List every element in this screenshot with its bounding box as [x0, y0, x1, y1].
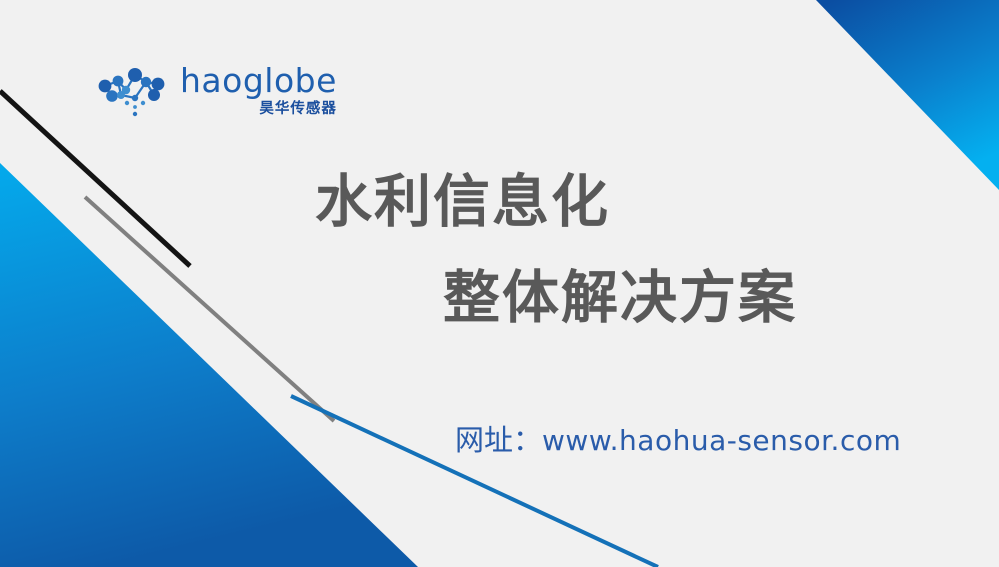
website-url[interactable]: www.haohua-sensor.com	[542, 424, 901, 457]
website-label: 网址：	[455, 423, 542, 457]
logo-subtitle-text: 昊华传感器	[259, 102, 337, 117]
logo-wordmark-text: haoglobe	[180, 64, 337, 97]
title-slide: haoglobe 昊华传感器 水利信息化 整体解决方案 网址：www.haohu…	[0, 0, 999, 567]
haoglobe-network-node-logo-icon	[96, 62, 174, 120]
company-logo[interactable]: haoglobe 昊华传感器	[96, 56, 326, 126]
logo-wordmark-group: haoglobe 昊华传感器	[180, 64, 337, 119]
website-line: 网址：www.haohua-sensor.com	[455, 423, 901, 458]
